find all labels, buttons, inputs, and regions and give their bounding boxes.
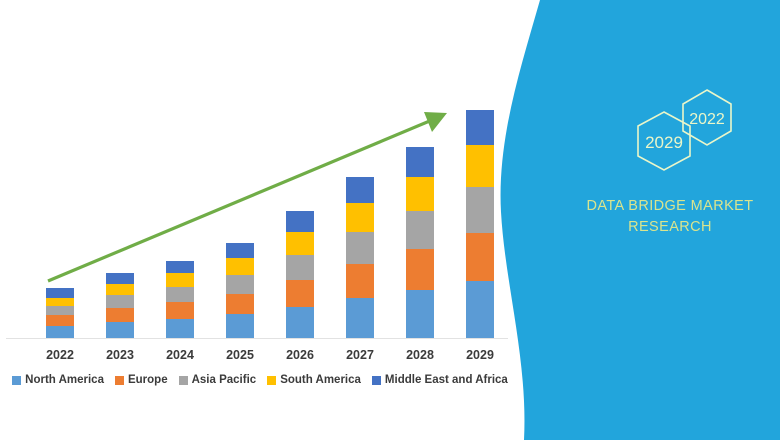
x-tick-2022: 2022 bbox=[30, 348, 90, 362]
stacked-bar-chart: 20222023202420252026202720282029 North A… bbox=[0, 0, 520, 440]
legend-swatch-icon bbox=[372, 376, 381, 385]
growth-trend-arrow bbox=[0, 0, 520, 345]
x-tick-2026: 2026 bbox=[270, 348, 330, 362]
legend-swatch-icon bbox=[267, 376, 276, 385]
plot-area bbox=[0, 0, 520, 345]
arrow-shaft bbox=[48, 120, 432, 281]
legend-label: South America bbox=[280, 374, 361, 386]
brand-name: DATA BRIDGE MARKET RESEARCH bbox=[560, 196, 780, 238]
x-tick-2024: 2024 bbox=[150, 348, 210, 362]
legend-label: Asia Pacific bbox=[192, 374, 257, 386]
hexagon-2029-label: 2029 bbox=[645, 133, 683, 152]
brand-name-line2: RESEARCH bbox=[560, 217, 780, 238]
chart-legend: North AmericaEuropeAsia PacificSouth Ame… bbox=[0, 374, 520, 386]
legend-label: Middle East and Africa bbox=[385, 374, 508, 386]
hexagon-2022-label: 2022 bbox=[689, 111, 725, 128]
legend-item-north-america[interactable]: North America bbox=[12, 374, 104, 386]
legend-item-middle-east-and-africa[interactable]: Middle East and Africa bbox=[372, 374, 508, 386]
legend-label: Europe bbox=[128, 374, 168, 386]
x-tick-2028: 2028 bbox=[390, 348, 450, 362]
legend-swatch-icon bbox=[12, 376, 21, 385]
infographic-root: 2029 2022 DATA BRIDGE MARKET RESEARCH 20… bbox=[0, 0, 780, 440]
x-tick-2029: 2029 bbox=[450, 348, 510, 362]
legend-label: North America bbox=[25, 374, 104, 386]
x-tick-2027: 2027 bbox=[330, 348, 390, 362]
legend-swatch-icon bbox=[179, 376, 188, 385]
legend-item-europe[interactable]: Europe bbox=[115, 374, 168, 386]
legend-item-asia-pacific[interactable]: Asia Pacific bbox=[179, 374, 257, 386]
x-tick-2025: 2025 bbox=[210, 348, 270, 362]
brand-name-line1: DATA BRIDGE MARKET bbox=[560, 196, 780, 217]
legend-swatch-icon bbox=[115, 376, 124, 385]
legend-item-south-america[interactable]: South America bbox=[267, 374, 361, 386]
x-tick-2023: 2023 bbox=[90, 348, 150, 362]
